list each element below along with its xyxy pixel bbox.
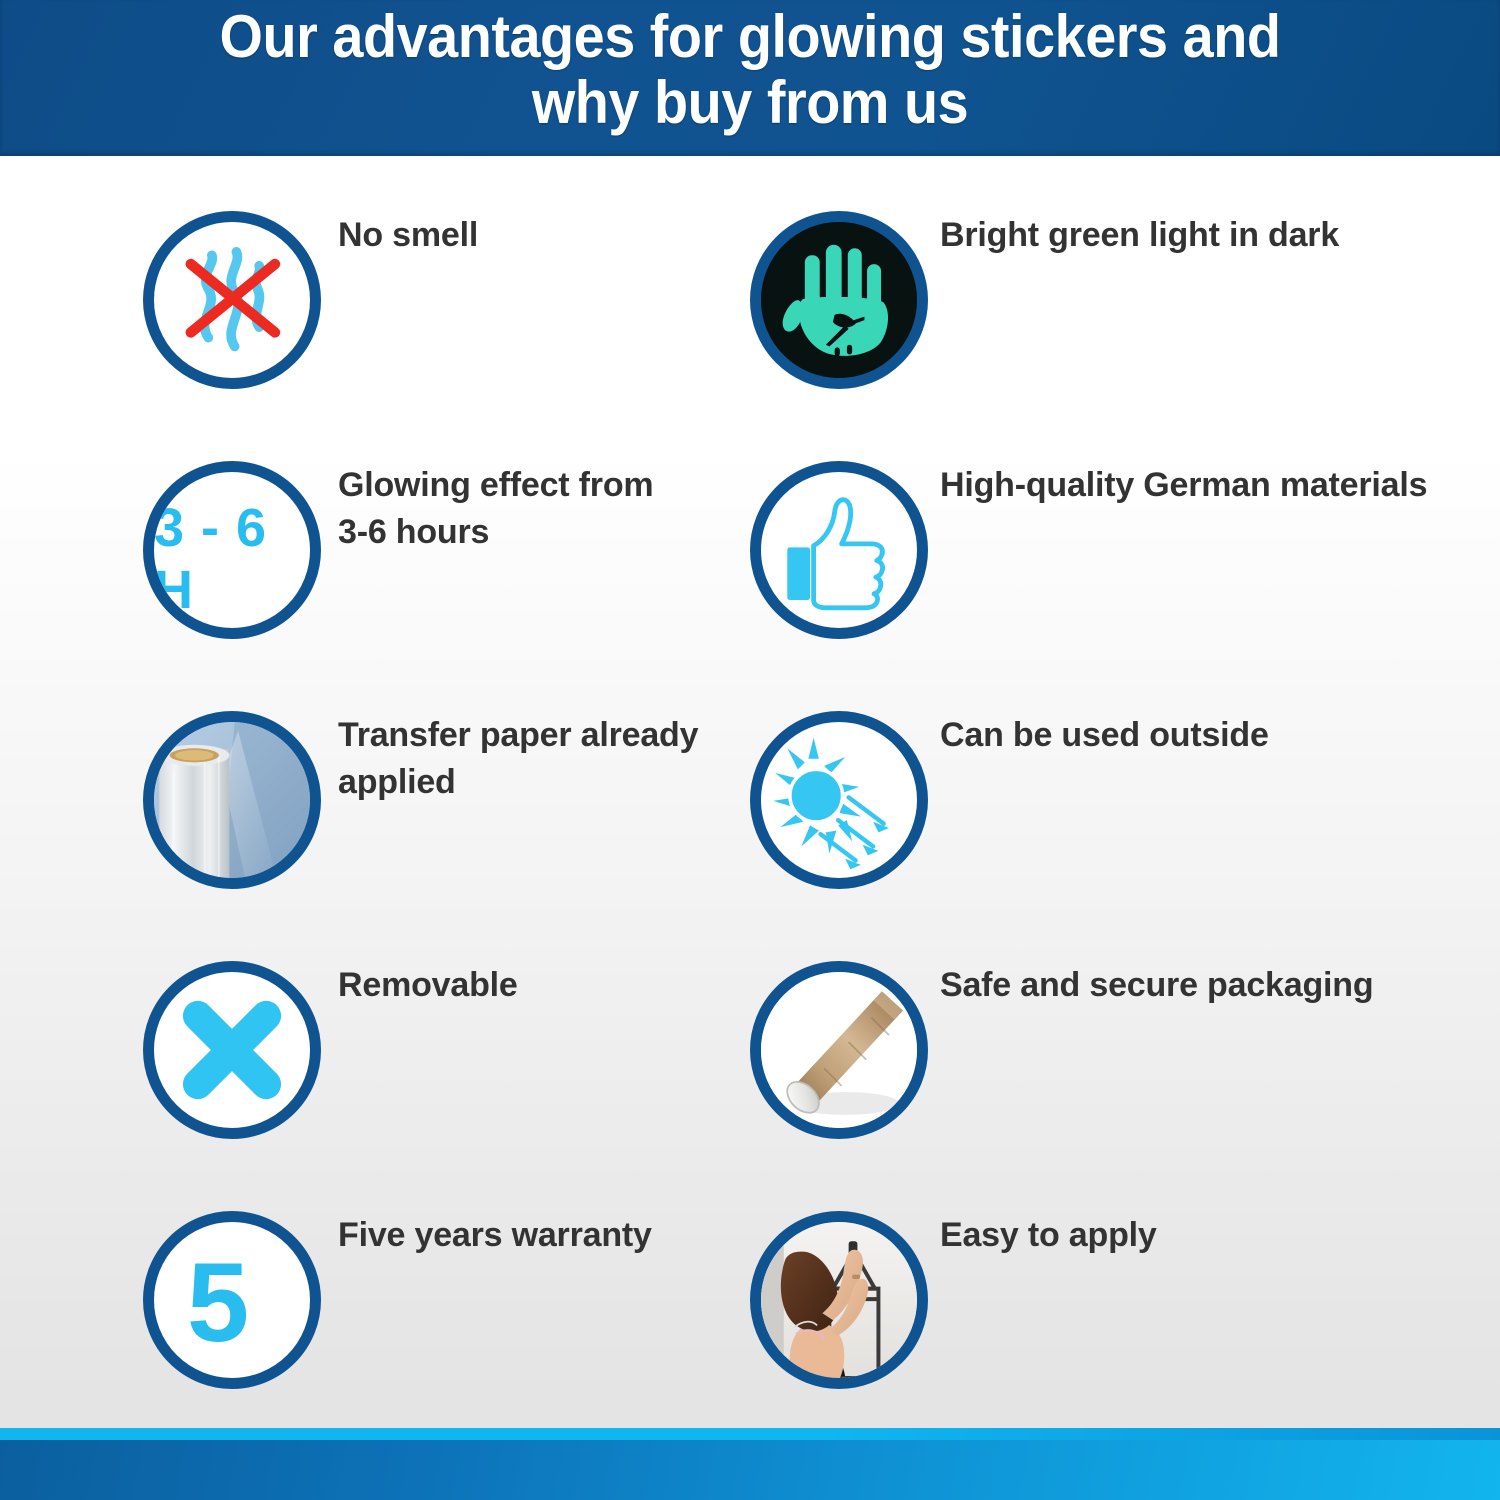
feature-safe-packaging[interactable]: Safe and secure packaging — [740, 906, 1460, 1156]
feature-usable-outside[interactable]: Can be used outside — [740, 656, 1460, 906]
footer-band — [0, 1440, 1500, 1500]
x-glyph — [154, 972, 310, 1128]
sun-rays-icon — [750, 711, 928, 889]
feature-label: Easy to apply — [940, 1212, 1460, 1259]
sun-glyph — [761, 722, 917, 878]
transfer-paper-roll-icon — [143, 711, 321, 889]
feature-row: 3 - 6 H Glowing effect from 3-6 hours Hi… — [0, 406, 1500, 656]
thumbs-up-icon — [750, 461, 928, 639]
tube-glyph — [761, 972, 917, 1128]
features-grid: No smell — [0, 156, 1500, 1416]
number-five-icon: 5 — [143, 1211, 321, 1389]
feature-easy-to-apply[interactable]: Easy to apply — [740, 1156, 1460, 1406]
mailing-tube-icon — [750, 961, 928, 1139]
footer-stripe — [0, 1428, 1500, 1440]
feature-label: High-quality German materials — [940, 462, 1460, 509]
feature-german-materials[interactable]: High-quality German materials — [740, 406, 1460, 656]
transfer-paper-glyph — [154, 722, 310, 878]
feature-row: Removable — [0, 906, 1500, 1156]
feature-row: No smell — [0, 156, 1500, 406]
handprint-glyph — [761, 222, 917, 378]
header-banner: Our advantages for glowing stickers and … — [0, 0, 1500, 156]
glowing-handprint-icon — [750, 211, 928, 389]
no-smell-icon — [143, 211, 321, 389]
applying-decal-glyph — [761, 1222, 917, 1378]
cross-x-icon — [143, 961, 321, 1139]
page-title: Our advantages for glowing stickers and … — [53, 4, 1448, 136]
feature-label: Bright green light in dark — [940, 212, 1460, 259]
warranty-icon-number: 5 — [154, 1222, 310, 1378]
feature-bright-green-light[interactable]: Bright green light in dark — [740, 156, 1460, 406]
infographic-page: Our advantages for glowing stickers and … — [0, 0, 1500, 1500]
duration-icon-text: 3 - 6 H — [154, 472, 310, 628]
feature-row: 5 Five years warranty — [0, 1156, 1500, 1406]
feature-label: Safe and secure packaging — [940, 962, 1460, 1009]
feature-label: Can be used outside — [940, 712, 1460, 759]
no-smell-glyph — [154, 222, 310, 378]
duration-3-6h-icon: 3 - 6 H — [143, 461, 321, 639]
feature-row: Transfer paper already applied — [0, 656, 1500, 906]
thumbs-up-glyph — [761, 472, 917, 628]
woman-applying-decal-icon — [750, 1211, 928, 1389]
